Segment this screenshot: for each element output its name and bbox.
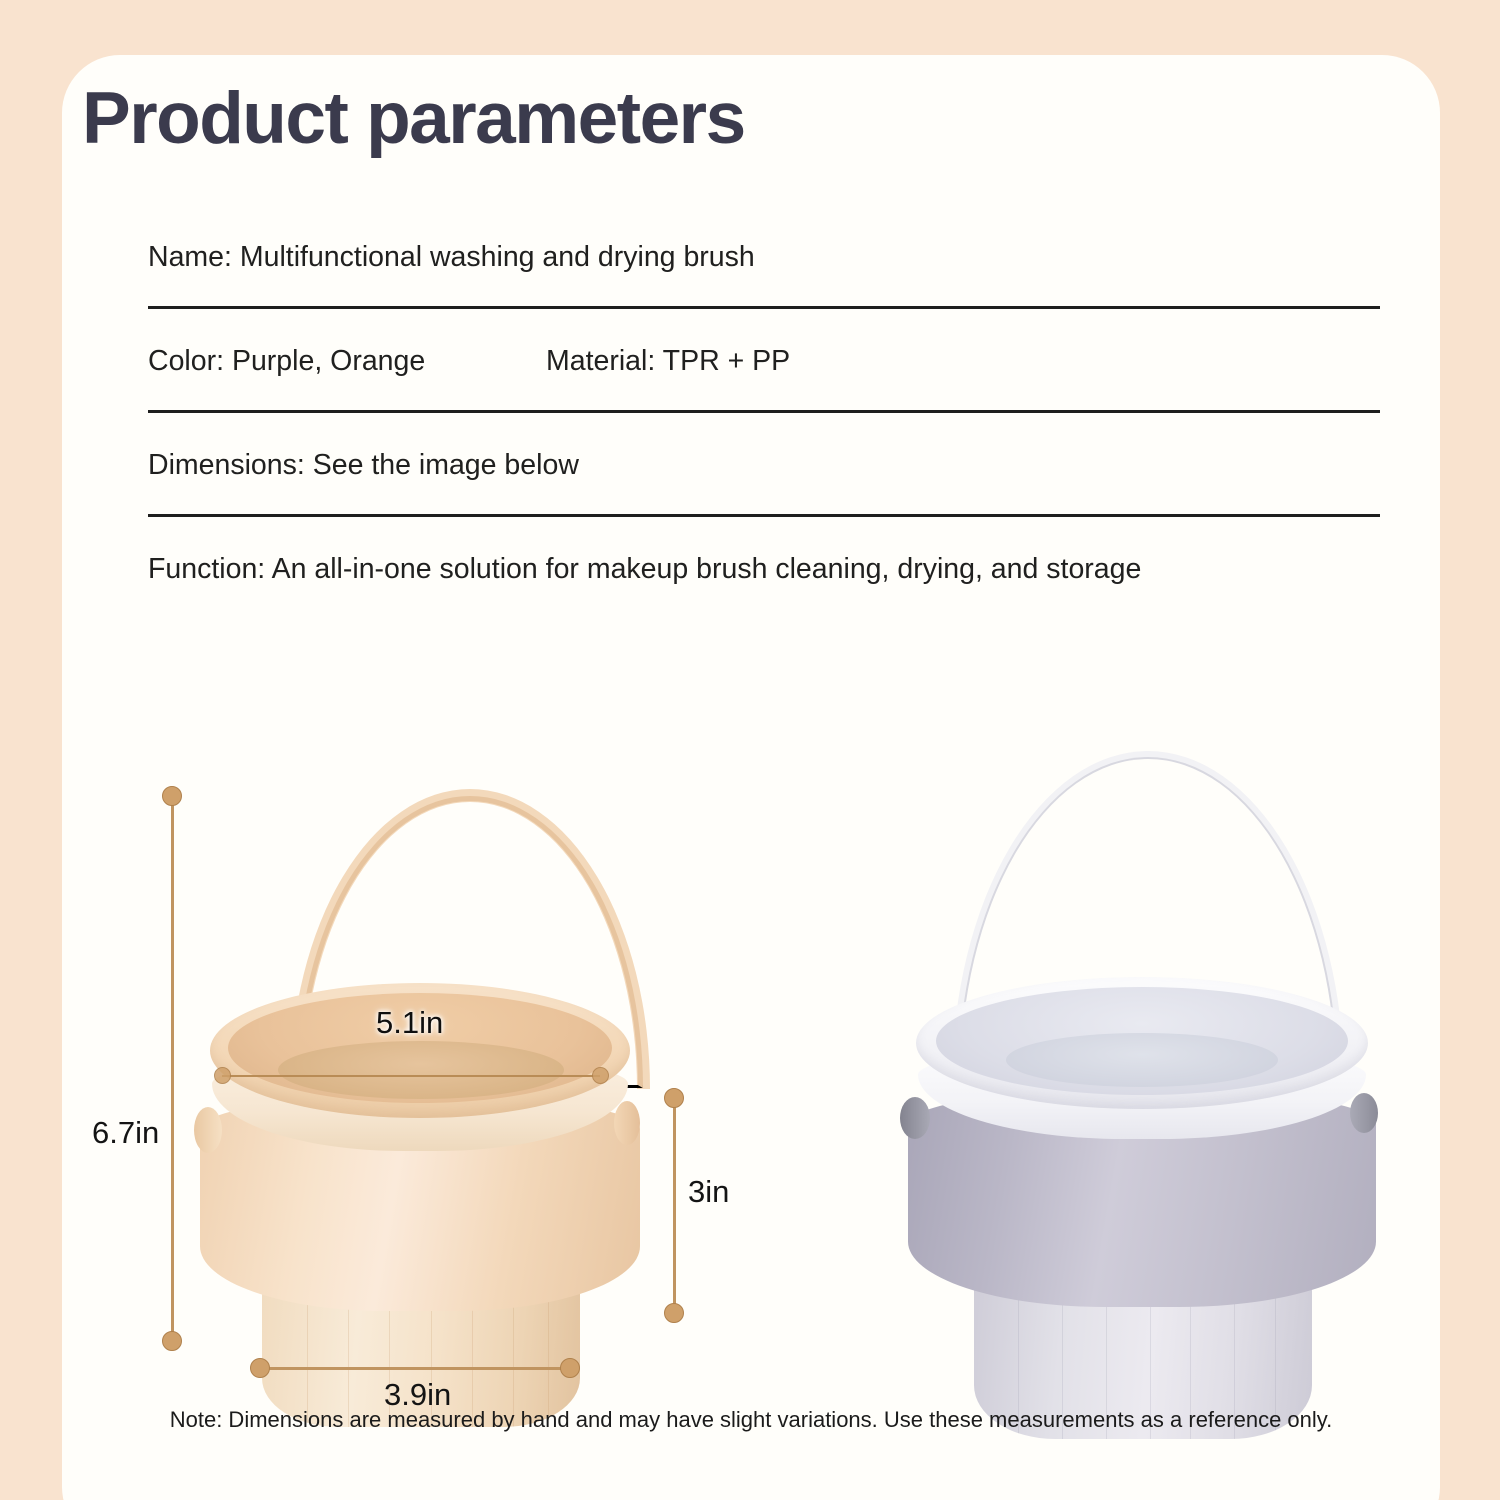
spec-color-material: Color: Purple, Orange Material: TPR + PP [148, 345, 790, 378]
product-parameters-card: Product parameters Name: Multifunctional… [62, 55, 1440, 1500]
guide-dot-top-left [214, 1067, 231, 1084]
guide-dot-top-right [592, 1067, 609, 1084]
spec-row-dimensions: Dimensions: See the image below [148, 413, 1380, 517]
basket-interior-floor [278, 1041, 564, 1099]
measurement-note: Note: Dimensions are measured by hand an… [62, 1407, 1440, 1433]
guide-dot-height-top [162, 786, 182, 806]
spec-row-name: Name: Multifunctional washing and drying… [148, 205, 1380, 309]
spec-color-text: Color: Purple, Orange [148, 345, 546, 378]
product-image-orange-basket [170, 755, 670, 1455]
spec-material-text: Material: TPR + PP [546, 345, 790, 378]
guide-line-total-height [171, 795, 174, 1340]
guide-label-total-height: 6.7in [92, 1115, 159, 1151]
spec-row-function: Function: An all-in-one solution for mak… [148, 517, 1380, 621]
infographic-root: Product parameters Name: Multifunctional… [0, 0, 1500, 1500]
basket-handle-pivot-left [194, 1107, 222, 1153]
guide-label-top-diameter: 5.1in [376, 1005, 443, 1041]
basket-handle-pivot-left [900, 1097, 930, 1139]
product-image-purple-basket [888, 741, 1408, 1461]
guide-label-body-height: 3in [688, 1174, 729, 1210]
spec-name-text: Name: Multifunctional washing and drying… [148, 241, 755, 274]
basket-handle-pivot-right [1350, 1093, 1378, 1133]
basket-interior-floor [1006, 1033, 1278, 1087]
guide-dot-height-bottom [162, 1331, 182, 1351]
guide-line-base-diameter [260, 1367, 570, 1370]
spec-row-color-material: Color: Purple, Orange Material: TPR + PP [148, 309, 1380, 413]
spec-dimensions-text: Dimensions: See the image below [148, 449, 579, 482]
spec-table: Name: Multifunctional washing and drying… [148, 205, 1380, 621]
guide-dot-base-right [560, 1358, 580, 1378]
spec-function-text: Function: An all-in-one solution for mak… [148, 553, 1141, 586]
guide-dot-body-top [664, 1088, 684, 1108]
guide-dot-body-bottom [664, 1303, 684, 1323]
basket-handle-pivot-right [614, 1101, 640, 1145]
page-title: Product parameters [82, 77, 745, 160]
product-figures: 6.7in 3in 3.9in 5.1in [62, 655, 1440, 1415]
guide-line-body-height [673, 1097, 676, 1312]
guide-dot-base-left [250, 1358, 270, 1378]
guide-line-top-diameter [222, 1075, 600, 1077]
